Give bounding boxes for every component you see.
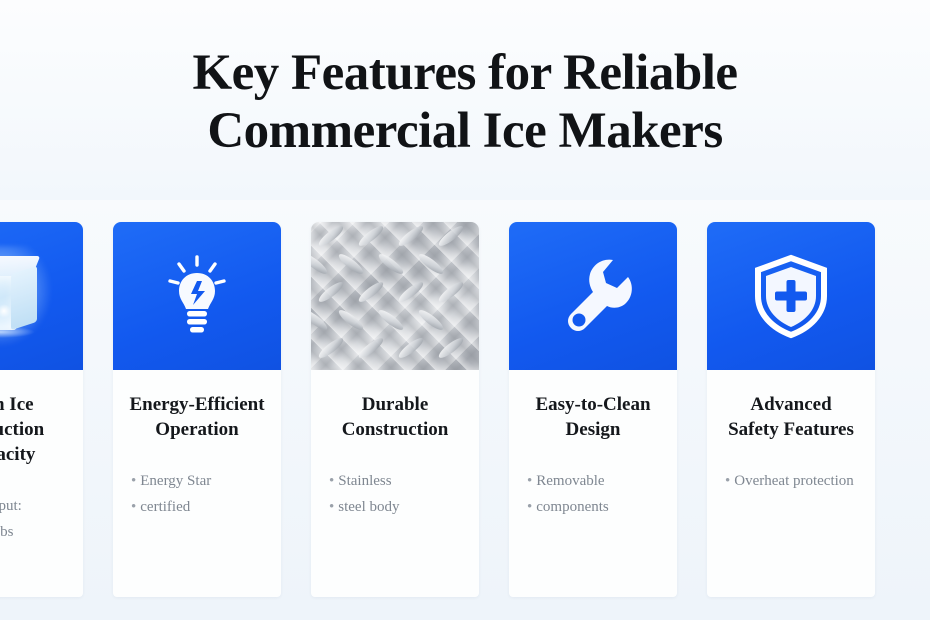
diamond-plate-steel-texture xyxy=(311,222,479,370)
card-header-icecube xyxy=(0,222,83,370)
card-title: Easy-to-Clean Design xyxy=(519,392,667,442)
card-bullets: •Energy Star •certified xyxy=(123,468,271,520)
page-title-line-1: Key Features for Reliable xyxy=(0,44,930,102)
feature-card-easy-to-clean-design[interactable]: Easy-to-Clean Design •Removable •compone… xyxy=(509,222,677,597)
bullet-text: Daily output: xyxy=(0,498,22,514)
energy-bulb-icon xyxy=(159,251,235,341)
bullet-item: •Energy Star xyxy=(131,468,271,494)
card-title: Advanced Safety Features xyxy=(717,392,865,442)
bullet-text: Removable xyxy=(536,473,604,489)
card-bullets: •Daily output: •100-500 lbs xyxy=(0,493,73,545)
infographic-page: Key Features for Reliable Commercial Ice… xyxy=(0,0,930,620)
bullet-text: Overheat protection xyxy=(734,473,854,489)
feature-card-high-ice-production-capacity[interactable]: High Ice Production Capacity •Daily outp… xyxy=(0,222,83,597)
header-band: Key Features for Reliable Commercial Ice… xyxy=(0,0,930,200)
bullet-item: •100-500 lbs xyxy=(0,519,73,545)
bullet-text: Energy Star xyxy=(140,473,211,489)
feature-card-row: High Ice Production Capacity •Daily outp… xyxy=(0,222,930,620)
card-body: Energy-Efficient Operation •Energy Star … xyxy=(113,370,281,532)
card-bullets: •Stainless •steel body xyxy=(321,468,469,520)
bullet-dot: • xyxy=(329,473,334,489)
bullet-text: certified xyxy=(140,499,190,515)
wrench-icon xyxy=(547,250,639,342)
bullet-dot: • xyxy=(527,499,532,515)
bullet-dot: • xyxy=(131,499,136,515)
bullet-dot: • xyxy=(725,473,730,489)
bullet-item: •steel body xyxy=(329,494,469,520)
card-header-wrench xyxy=(509,222,677,370)
feature-card-durable-construction[interactable]: Durable Construction •Stainless •steel b… xyxy=(311,222,479,597)
card-body: Advanced Safety Features •Overheat prote… xyxy=(707,370,875,506)
card-title: High Ice Production Capacity xyxy=(0,392,73,467)
page-title: Key Features for Reliable Commercial Ice… xyxy=(0,44,930,160)
ice-cube-icon xyxy=(0,252,45,340)
bullet-text: Stainless xyxy=(338,473,391,489)
feature-card-advanced-safety-features[interactable]: Advanced Safety Features •Overheat prote… xyxy=(707,222,875,597)
bullet-item: •Daily output: xyxy=(0,493,73,519)
card-body: High Ice Production Capacity •Daily outp… xyxy=(0,370,83,557)
bullet-item: •components xyxy=(527,494,667,520)
card-bullets: •Overheat protection xyxy=(717,468,865,494)
card-header-steel xyxy=(311,222,479,370)
card-bullets: •Removable •components xyxy=(519,468,667,520)
card-body: Durable Construction •Stainless •steel b… xyxy=(311,370,479,532)
bullet-dot: • xyxy=(131,473,136,489)
bullet-text: steel body xyxy=(338,499,399,515)
bullet-text: components xyxy=(536,499,609,515)
bullet-text: 100-500 lbs xyxy=(0,524,14,540)
card-body: Easy-to-Clean Design •Removable •compone… xyxy=(509,370,677,532)
bullet-item: •Removable xyxy=(527,468,667,494)
card-header-shield xyxy=(707,222,875,370)
card-title: Durable Construction xyxy=(321,392,469,442)
shield-plus-icon xyxy=(748,250,834,342)
bullet-dot: • xyxy=(329,499,334,515)
bullet-dot: • xyxy=(527,473,532,489)
bullet-item: •certified xyxy=(131,494,271,520)
card-header-energy xyxy=(113,222,281,370)
card-title: Energy-Efficient Operation xyxy=(123,392,271,442)
bullet-item: •Overheat protection xyxy=(725,468,865,494)
page-title-line-2: Commercial Ice Makers xyxy=(0,102,930,160)
bullet-item: •Stainless xyxy=(329,468,469,494)
feature-card-energy-efficient-operation[interactable]: Energy-Efficient Operation •Energy Star … xyxy=(113,222,281,597)
